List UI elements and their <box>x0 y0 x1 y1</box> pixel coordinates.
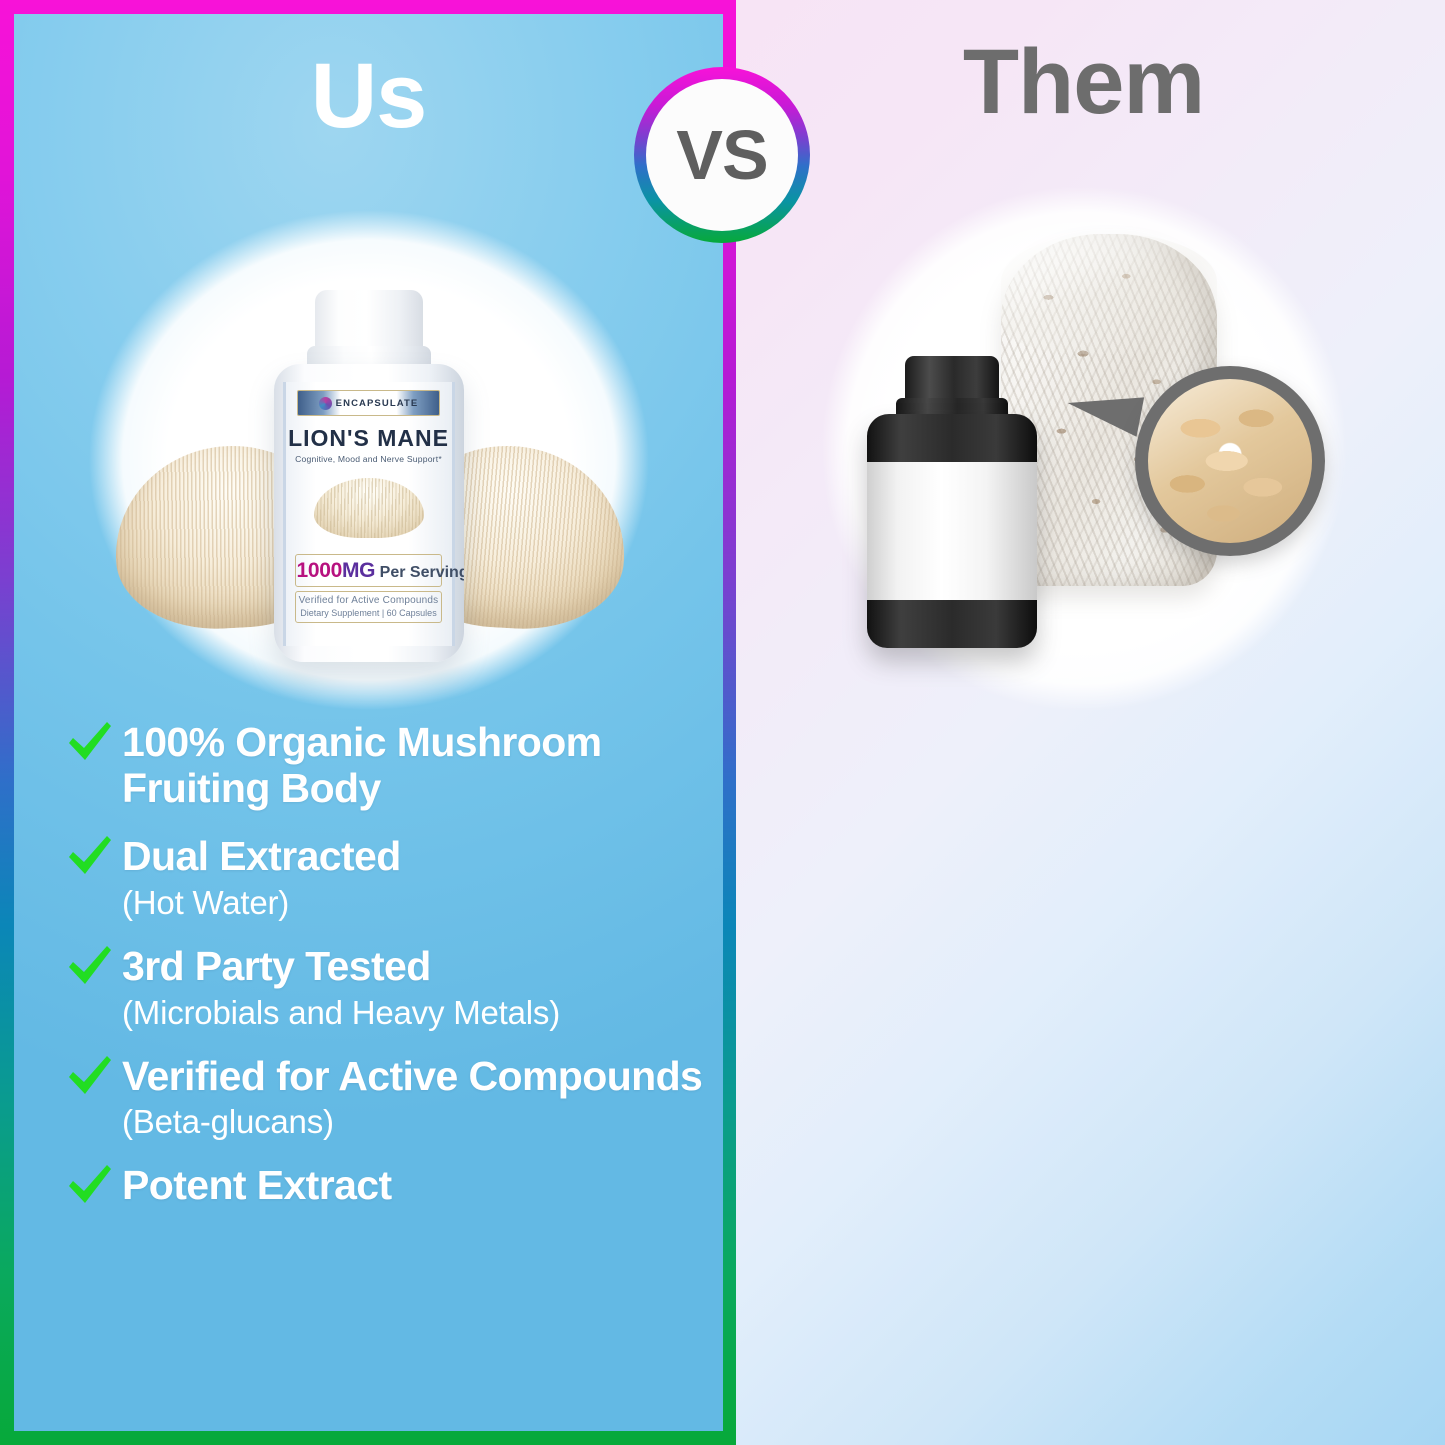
generic-black-bottle-icon <box>867 356 1037 648</box>
vs-badge: VS <box>634 67 810 243</box>
bottle-body: ENCAPSULATE LION'S MANE Cognitive, Mood … <box>274 364 464 662</box>
comparison-infographic: Them X Non-Digestible Fibers like Chitin… <box>0 0 1445 1445</box>
supplement-bottle: ENCAPSULATE LION'S MANE Cognitive, Mood … <box>274 290 464 662</box>
us-panel-gradient-frame: Us ENCAPSULATE LION'S MANE <box>0 0 736 1445</box>
label-footer: Verified for Active Compounds Dietary Su… <box>295 591 441 623</box>
them-panel: Them X Non-Digestible Fibers like Chitin… <box>722 0 1445 1445</box>
black-bottle-body <box>867 414 1037 648</box>
benefit-text: Verified for Active Compounds (Beta-gluc… <box>122 1054 714 1142</box>
green-check-icon <box>66 944 122 988</box>
dose-suffix: Per Serving <box>380 564 464 581</box>
green-check-icon <box>66 834 122 878</box>
vs-badge-inner: VS <box>646 79 798 231</box>
bag-fold-highlight <box>1001 234 1217 354</box>
benefit-text: Potent Extract <box>122 1163 714 1209</box>
list-item: Dual Extracted (Hot Water) <box>66 834 714 922</box>
list-item: Potent Extract <box>66 1163 714 1209</box>
benefit-heading: Verified for Active Compounds <box>122 1053 702 1099</box>
vs-label: VS <box>676 120 767 190</box>
supplement-line: Dietary Supplement | 60 Capsules <box>296 608 440 618</box>
green-check-icon <box>66 1163 122 1207</box>
lions-mane-product-illustration: ENCAPSULATE LION'S MANE Cognitive, Mood … <box>109 220 629 690</box>
benefit-text: Dual Extracted (Hot Water) <box>122 834 714 922</box>
list-item: Verified for Active Compounds (Beta-gluc… <box>66 1054 714 1142</box>
lotus-logo-icon <box>319 397 332 410</box>
benefit-note: (Hot Water) <box>122 884 714 922</box>
benefit-heading: Potent Extract <box>122 1162 392 1208</box>
bottle-cap <box>315 290 423 352</box>
list-item: 3rd Party Tested (Microbials and Heavy M… <box>66 944 714 1032</box>
brand-name: ENCAPSULATE <box>336 398 419 409</box>
benefit-heading: 100% Organic Mushroom Fruiting Body <box>122 719 602 811</box>
them-heading: Them <box>722 36 1445 128</box>
benefit-text: 3rd Party Tested (Microbials and Heavy M… <box>122 944 714 1032</box>
brand-bar: ENCAPSULATE <box>297 390 440 416</box>
green-check-icon <box>66 720 122 764</box>
bottle-label: ENCAPSULATE LION'S MANE Cognitive, Mood … <box>283 382 455 646</box>
product-title: LION'S MANE <box>288 425 449 452</box>
benefit-note: (Microbials and Heavy Metals) <box>122 994 714 1032</box>
magnified-grain-inset <box>1135 366 1325 556</box>
green-check-icon <box>66 1054 122 1098</box>
benefit-heading: 3rd Party Tested <box>122 943 431 989</box>
dose-amount: 1000 <box>296 559 342 582</box>
benefit-text: 100% Organic Mushroom Fruiting Body <box>122 720 714 812</box>
benefit-heading: Dual Extracted <box>122 833 401 879</box>
dose-unit: MG <box>342 559 375 582</box>
mushroom-photo-icon <box>314 478 424 538</box>
list-item: 100% Organic Mushroom Fruiting Body <box>66 720 714 812</box>
product-subtitle: Cognitive, Mood and Nerve Support* <box>295 454 442 464</box>
us-heading: Us <box>14 50 723 142</box>
benefit-note: (Beta-glucans) <box>122 1103 714 1141</box>
black-bottle-cap <box>905 356 999 402</box>
competitor-product-illustration <box>849 216 1319 656</box>
dose-callout: 1000MG Per Serving <box>295 554 441 587</box>
benefits-list: 100% Organic Mushroom Fruiting Body Dual… <box>66 720 714 1209</box>
blank-white-label <box>867 462 1037 600</box>
verified-line: Verified for Active Compounds <box>296 595 440 606</box>
us-panel: Us ENCAPSULATE LION'S MANE <box>14 14 723 1431</box>
